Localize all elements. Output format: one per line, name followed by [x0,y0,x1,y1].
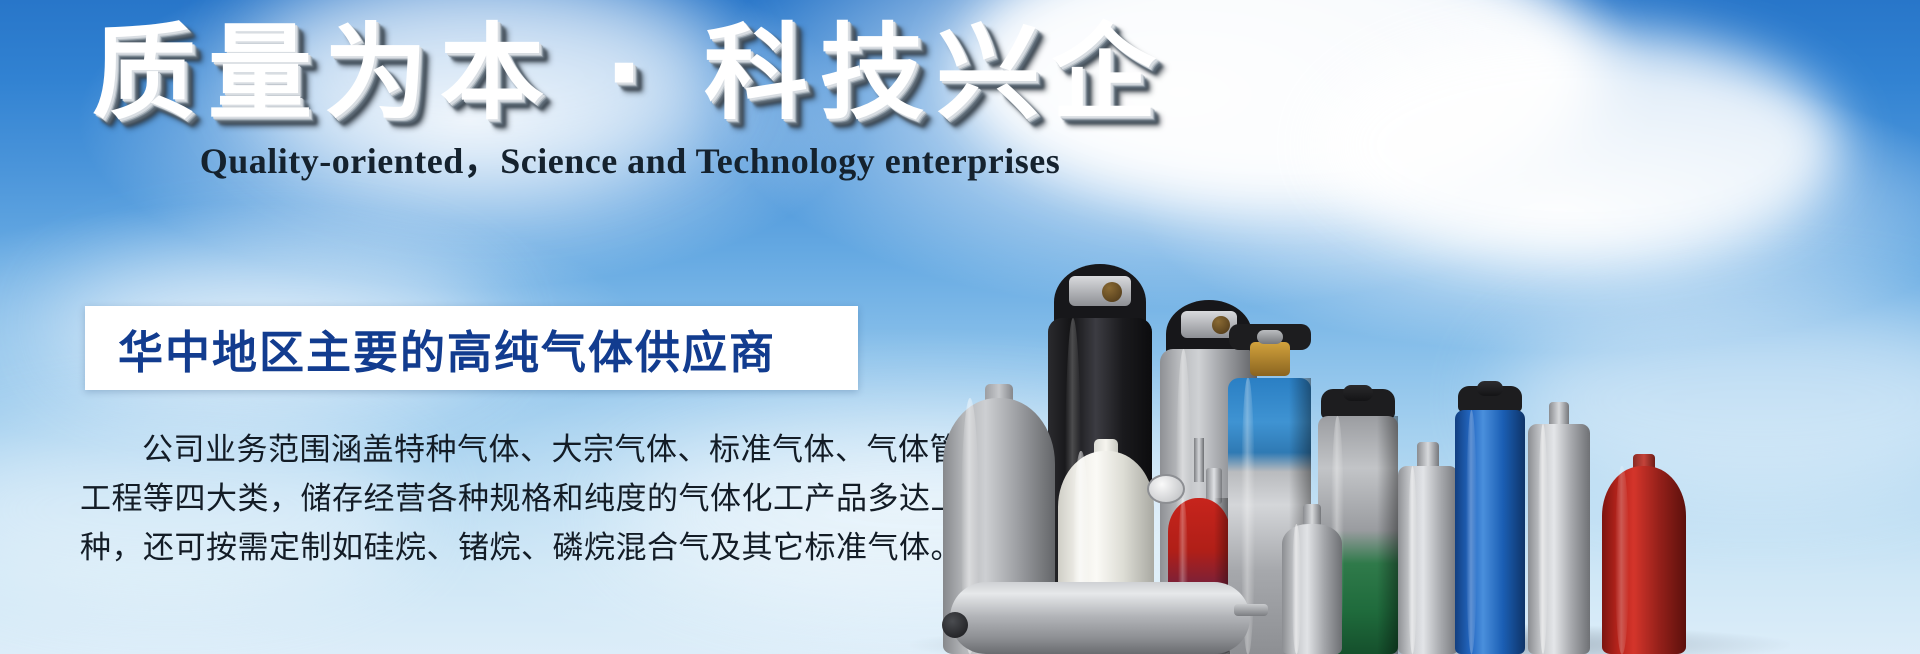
cylinder-valve [1194,438,1204,482]
paragraph-line: 种，还可按需定制如硅烷、锗烷、磷烷混合气及其它标准气体。 [80,523,870,572]
cylinder-body [1602,466,1686,654]
dark-red-cylinder [1602,454,1686,654]
brass-valve-icon [1250,342,1290,376]
horizontal-cylinder [950,572,1250,654]
cylinder-end-cap [942,612,968,638]
royal-blue-cylinder [1455,386,1525,654]
cylinder-body [1455,410,1525,654]
gas-company-banner: 质量为本 · 科技兴企 Quality-oriented，Science and… [0,0,1920,654]
cylinder-body [1528,424,1590,654]
cylinder-valve-knob [1102,282,1122,302]
slogan-box: 华中地区主要的高纯气体供应商 [85,306,858,390]
cylinder-body [1282,524,1342,654]
cylinder-body [1398,466,1458,654]
aluminum-cylinder [1398,442,1458,654]
slogan-text: 华中地区主要的高纯气体供应商 [85,316,776,381]
gas-cylinder-cluster [930,0,1920,654]
silver-cylinder [1528,402,1590,654]
paragraph-line: 工程等四大类，储存经营各种规格和纯度的气体化工产品多达上百 [80,474,870,523]
cylinder-body [950,582,1250,654]
regulator-gauge [1147,474,1185,504]
valve-handwheel [1257,330,1283,344]
small-aluminum-cylinder [1282,504,1342,654]
valve-handwheel [1343,385,1373,401]
valve-handwheel [1477,381,1503,396]
banner-paragraph: 公司业务范围涵盖特种气体、大宗气体、标准气体、气体管道 工程等四大类，储存经营各… [80,425,870,572]
cylinder-valve [1234,604,1268,616]
paragraph-line: 公司业务范围涵盖特种气体、大宗气体、标准气体、气体管道 [80,425,870,474]
